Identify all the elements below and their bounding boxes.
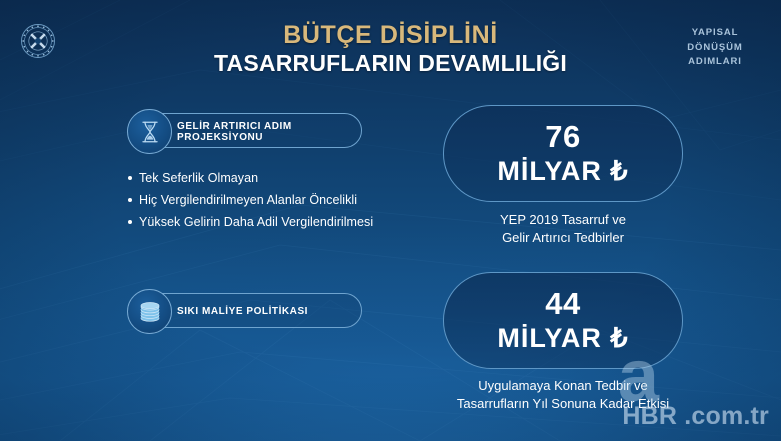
list-item: Yüksek Gelirin Daha Adil Vergilendirilme… (128, 211, 428, 233)
slide-root: BÜTÇE DİSİPLİNİ TASARRUFLARIN DEVAMLILIĞ… (0, 0, 781, 441)
page-title: BÜTÇE DİSİPLİNİ TASARRUFLARIN DEVAMLILIĞ… (0, 22, 781, 77)
bullet-dot-icon (128, 176, 132, 180)
bullet-list: Tek Seferlik Olmayan Hiç Vergilendirilme… (128, 167, 428, 233)
list-item: Hiç Vergilendirilmeyen Alanlar Öncelikli (128, 189, 428, 211)
pill-label: SIKI MALİYE POLİTİKASI (177, 294, 308, 329)
hourglass-icon (127, 109, 172, 154)
list-item: Tek Seferlik Olmayan (128, 167, 428, 189)
caption-line-1: YEP 2019 Tasarruf ve (423, 211, 703, 229)
stat-unit: MİLYAR ₺ (497, 323, 628, 353)
stat-caption-44: Uygulamaya Konan Tedbir ve Tasarrufların… (423, 377, 703, 414)
caption-line-2: Gelir Artırıcı Tedbirler (423, 229, 703, 247)
title-subtitle: TASARRUFLARIN DEVAMLILIĞI (0, 51, 781, 77)
bullet-text: Hiç Vergilendirilmeyen Alanlar Öncelikli (139, 193, 357, 207)
stat-card-44: 44 MİLYAR ₺ (443, 272, 683, 369)
bullet-dot-icon (128, 198, 132, 202)
stat-card-76: 76 MİLYAR ₺ (443, 105, 683, 202)
section-pill-siki-maliye[interactable]: SIKI MALİYE POLİTİKASI (128, 293, 362, 328)
title-main: BÜTÇE DİSİPLİNİ (0, 22, 781, 49)
corner-label: YAPISAL DÖNÜŞÜM ADIMLARI (665, 26, 765, 70)
caption-line-2: Tasarrufların Yıl Sonuna Kadar Etkisi (423, 395, 703, 413)
stat-number: 44 (545, 288, 580, 319)
stat-unit: MİLYAR ₺ (497, 156, 628, 186)
stat-caption-76: YEP 2019 Tasarruf ve Gelir Artırıcı Tedb… (423, 211, 703, 248)
stat-number: 76 (545, 121, 580, 152)
caption-line-1: Uygulamaya Konan Tedbir ve (423, 377, 703, 395)
pill-label: GELİR ARTIRICI ADIM PROJEKSİYONU (177, 114, 361, 149)
bullet-dot-icon (128, 220, 132, 224)
bullet-text: Tek Seferlik Olmayan (139, 171, 258, 185)
section-pill-gelir-artirici[interactable]: GELİR ARTIRICI ADIM PROJEKSİYONU (128, 113, 362, 148)
coin-stack-icon (127, 289, 172, 334)
bullet-text: Yüksek Gelirin Daha Adil Vergilendirilme… (139, 215, 373, 229)
